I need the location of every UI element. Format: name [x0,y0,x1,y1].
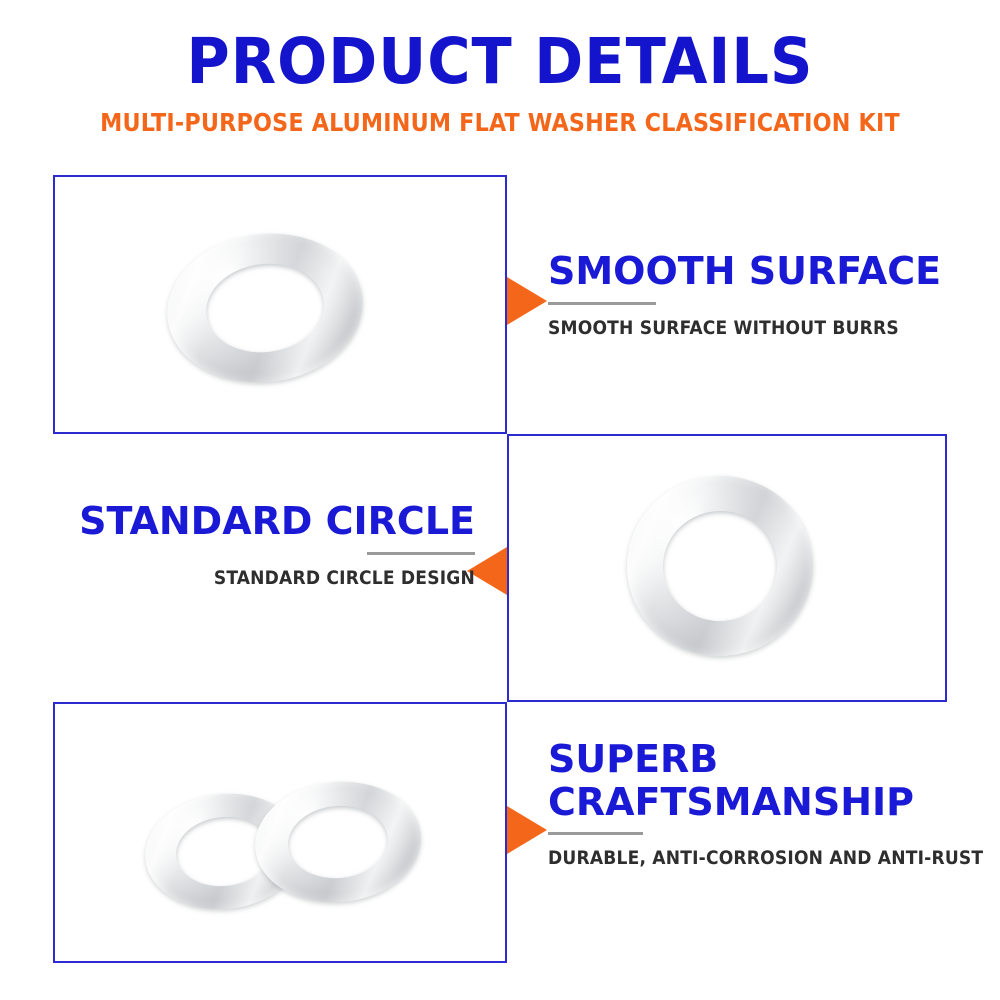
product-photo-frame-superb-craftsmanship [53,702,507,963]
feature-heading-smooth-surface: SMOOTH SURFACE [548,250,941,293]
feature-description-smooth-surface: SMOOTH SURFACE WITHOUT BURRS [548,317,941,340]
pointer-triangle-right-icon [507,806,547,854]
feature-heading-standard-circle: STANDARD CIRCLE [60,500,475,543]
page-subtitle: MULTI-PURPOSE ALUMINUM FLAT WASHER CLASS… [5,110,995,135]
page-title: PRODUCT DETAILS [0,30,1000,93]
product-photo-frame-standard-circle [507,434,947,702]
feature-block-superb-craftsmanship: SUPERB CRAFTSMANSHIP DURABLE, ANTI-CORRO… [548,738,983,870]
feature-heading-superb-craftsmanship-line1: SUPERB [548,738,983,781]
feature-heading-superb-craftsmanship-line2: CRAFTSMANSHIP [548,781,983,824]
divider [367,552,475,555]
divider [548,832,643,835]
feature-description-standard-circle: STANDARD CIRCLE DESIGN [60,567,475,590]
feature-description-superb-craftsmanship: DURABLE, ANTI-CORROSION AND ANTI-RUST [548,847,983,870]
pointer-triangle-right-icon [507,277,547,325]
divider [548,302,656,305]
header: PRODUCT DETAILS MULTI-PURPOSE ALUMINUM F… [0,0,1000,160]
product-photo-frame-smooth-surface [53,175,507,434]
feature-block-smooth-surface: SMOOTH SURFACE SMOOTH SURFACE WITHOUT BU… [548,250,941,339]
feature-block-standard-circle: STANDARD CIRCLE STANDARD CIRCLE DESIGN [60,500,475,589]
washer-ring-icon [621,470,819,663]
washer-ring-icon [159,223,372,394]
